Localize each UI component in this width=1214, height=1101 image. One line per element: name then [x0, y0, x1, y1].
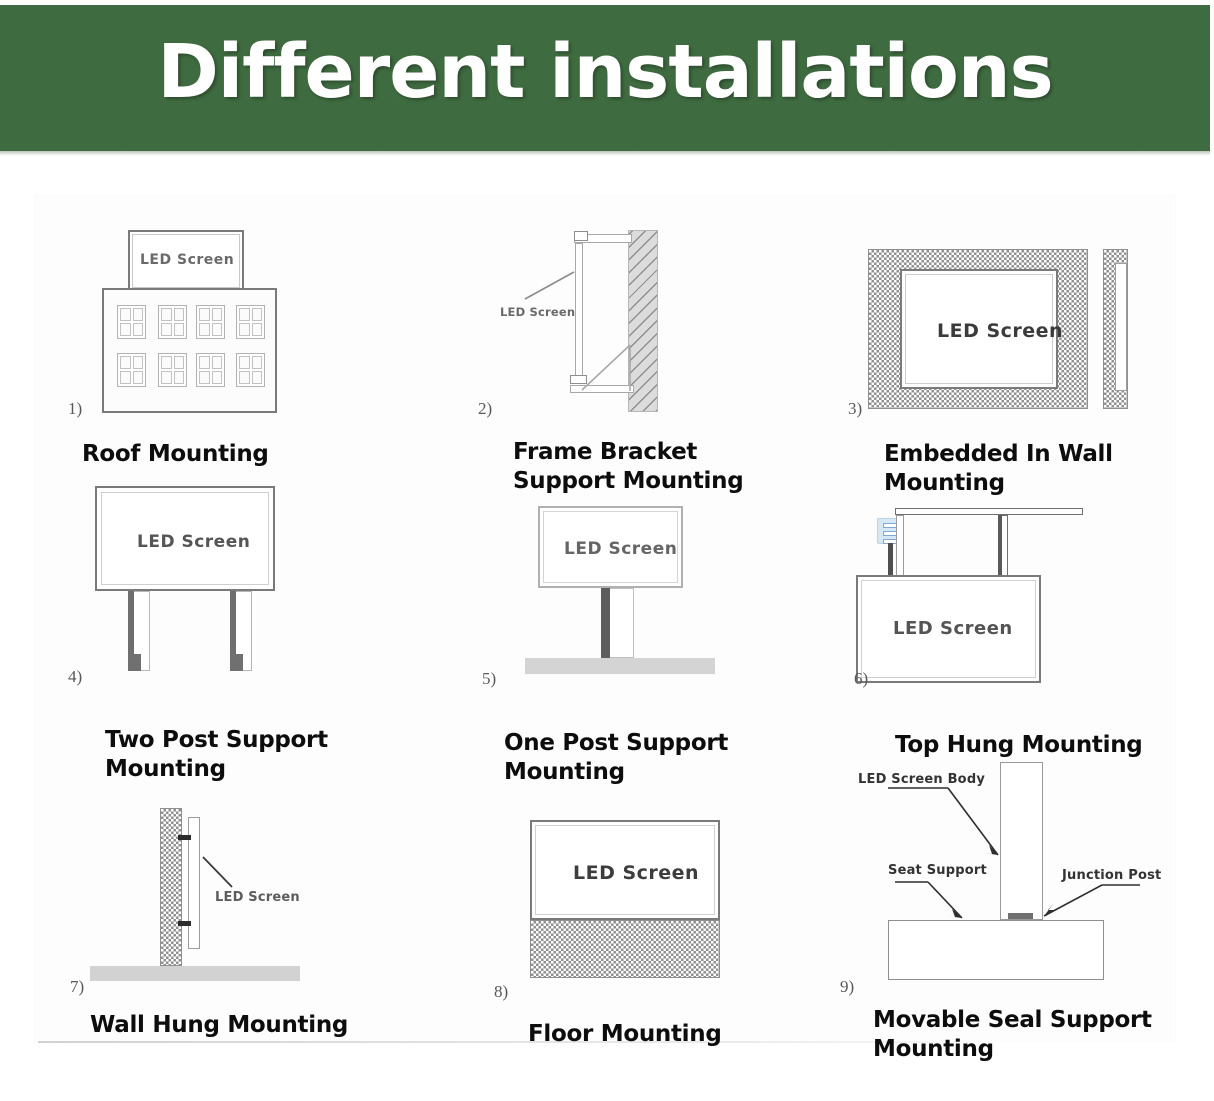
caption-floor-mounting: Floor Mounting — [528, 1020, 828, 1049]
support-post-right-foot — [230, 654, 243, 671]
step-number-7: 7) — [70, 978, 84, 995]
ground-base-bar — [525, 658, 715, 674]
ceiling-rail — [895, 508, 1083, 515]
diagram-two-post-support-mounting: LED Screen — [60, 478, 390, 693]
hanger-left-stub — [888, 543, 893, 577]
building-window — [196, 305, 225, 339]
movable-seal-leader-lines — [840, 760, 1200, 1010]
embedded-led-screen-label: LED Screen — [937, 320, 1063, 342]
building-window — [158, 353, 187, 387]
step-number-8: 8) — [494, 983, 508, 1000]
bracket-brace — [470, 215, 810, 430]
step-number-6: 6) — [854, 670, 868, 687]
caption-movable-seal-support-mounting: Movable Seal Support Mounting — [873, 1006, 1203, 1064]
annotation-seat-support: Seat Support — [888, 863, 987, 878]
step-number-1: 1) — [68, 400, 82, 417]
two-post-led-screen-label: LED Screen — [137, 532, 250, 552]
annotation-led-screen-body: LED Screen Body — [858, 772, 985, 787]
roof-led-screen-label: LED Screen — [140, 252, 234, 268]
diagram-top-hung-mounting: LED Screen — [850, 478, 1190, 693]
building-window — [117, 305, 146, 339]
building-window — [196, 353, 225, 387]
step-number-4: 4) — [68, 668, 82, 685]
support-post-left-foot — [128, 654, 141, 671]
step-number-3: 3) — [848, 400, 862, 417]
support-post-center-shadow — [601, 588, 610, 658]
caption-roof-mounting: Roof Mounting — [82, 440, 382, 469]
hanger-left — [896, 515, 904, 577]
caption-two-post-support-mounting: Two Post Support Mounting — [105, 726, 425, 784]
building-window — [236, 353, 265, 387]
header-banner-shadow — [0, 151, 1210, 156]
diagram-floor-mounting: LED Screen — [470, 800, 810, 1000]
hanger-right-shadow — [998, 515, 1002, 577]
caption-wall-hung-mounting: Wall Hung Mounting — [90, 1011, 410, 1040]
step-number-9: 9) — [840, 978, 854, 995]
page-title: Different installations — [0, 22, 1210, 122]
step-number-5: 5) — [482, 670, 496, 687]
floor-led-screen-label: LED Screen — [573, 862, 699, 884]
one-post-led-screen-label: LED Screen — [564, 539, 677, 559]
embedded-screen-side-slot — [1115, 263, 1127, 391]
diagram-wall-hung-mounting: LED Screen — [60, 790, 420, 1000]
wall-hung-led-screen-label: LED Screen — [215, 890, 300, 905]
caption-top-hung-mounting: Top Hung Mounting — [895, 731, 1195, 760]
building-window — [158, 305, 187, 339]
diagram-one-post-support-mounting: LED Screen — [470, 478, 810, 693]
diagram-roof-mounting: LED Screen — [60, 215, 390, 430]
top-hung-led-screen-label: LED Screen — [893, 618, 1013, 639]
building-window — [117, 353, 146, 387]
floor-base-block — [530, 920, 720, 978]
annotation-junction-post: Junction Post — [1062, 868, 1161, 883]
caption-one-post-support-mounting: One Post Support Mounting — [504, 729, 824, 787]
diagram-embedded-in-wall-mounting: LED Screen — [850, 215, 1190, 430]
diagram-frame-bracket-support-mounting: LED Screen — [470, 215, 810, 430]
step-number-2: 2) — [478, 400, 492, 417]
frame-bracket-led-screen-label: LED Screen — [500, 305, 575, 319]
building-window — [236, 305, 265, 339]
diagram-movable-seal-support-mounting: LED Screen Body Seat Support Junction Po… — [840, 760, 1200, 1010]
